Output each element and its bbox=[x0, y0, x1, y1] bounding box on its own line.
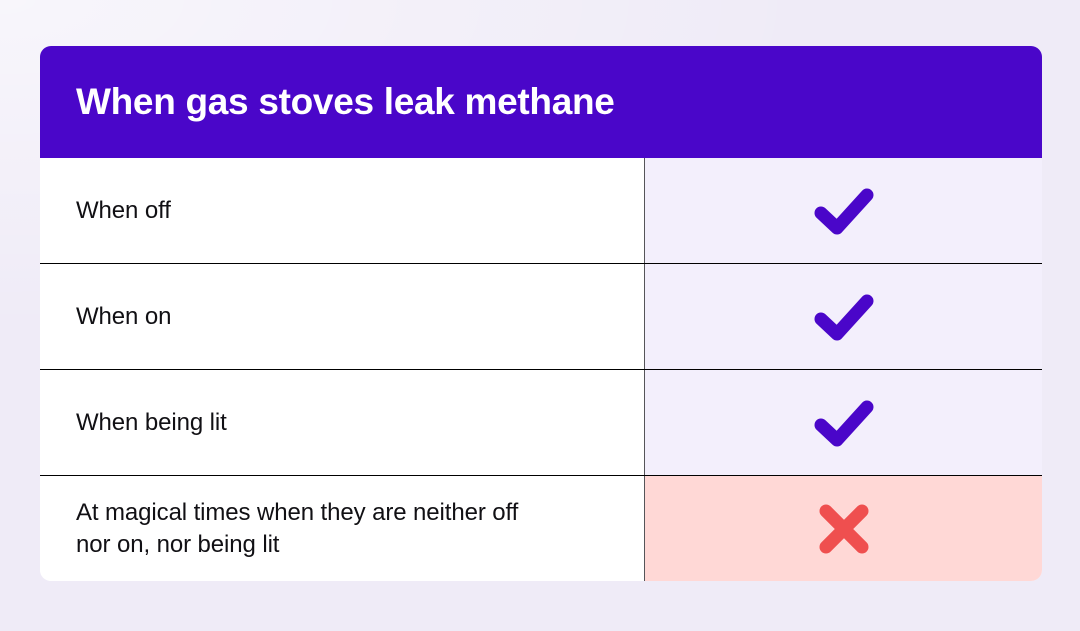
row-label: When off bbox=[76, 195, 171, 227]
row-label: When on bbox=[76, 301, 171, 333]
comparison-card: When gas stoves leak methane When off bbox=[40, 46, 1042, 581]
cross-icon bbox=[815, 500, 873, 558]
check-icon bbox=[813, 185, 875, 237]
check-icon bbox=[813, 397, 875, 449]
card-header: When gas stoves leak methane bbox=[40, 46, 1042, 158]
row-label-cell: At magical times when they are neither o… bbox=[40, 476, 645, 581]
row-label: At magical times when they are neither o… bbox=[76, 497, 546, 560]
row-label-cell: When being lit bbox=[40, 370, 645, 475]
table-body: When off When on bbox=[40, 158, 1042, 581]
table-row: When being lit bbox=[40, 370, 1042, 476]
row-status-cell bbox=[645, 370, 1042, 475]
page-root: When gas stoves leak methane When off bbox=[0, 0, 1080, 631]
row-status-cell bbox=[645, 476, 1042, 581]
check-icon bbox=[813, 291, 875, 343]
page-title: When gas stoves leak methane bbox=[76, 82, 615, 123]
row-status-cell bbox=[645, 264, 1042, 369]
table-row: When off bbox=[40, 158, 1042, 264]
row-label-cell: When off bbox=[40, 158, 645, 263]
table-row: When on bbox=[40, 264, 1042, 370]
row-label: When being lit bbox=[76, 407, 227, 439]
row-status-cell bbox=[645, 158, 1042, 263]
row-label-cell: When on bbox=[40, 264, 645, 369]
table-row: At magical times when they are neither o… bbox=[40, 476, 1042, 581]
